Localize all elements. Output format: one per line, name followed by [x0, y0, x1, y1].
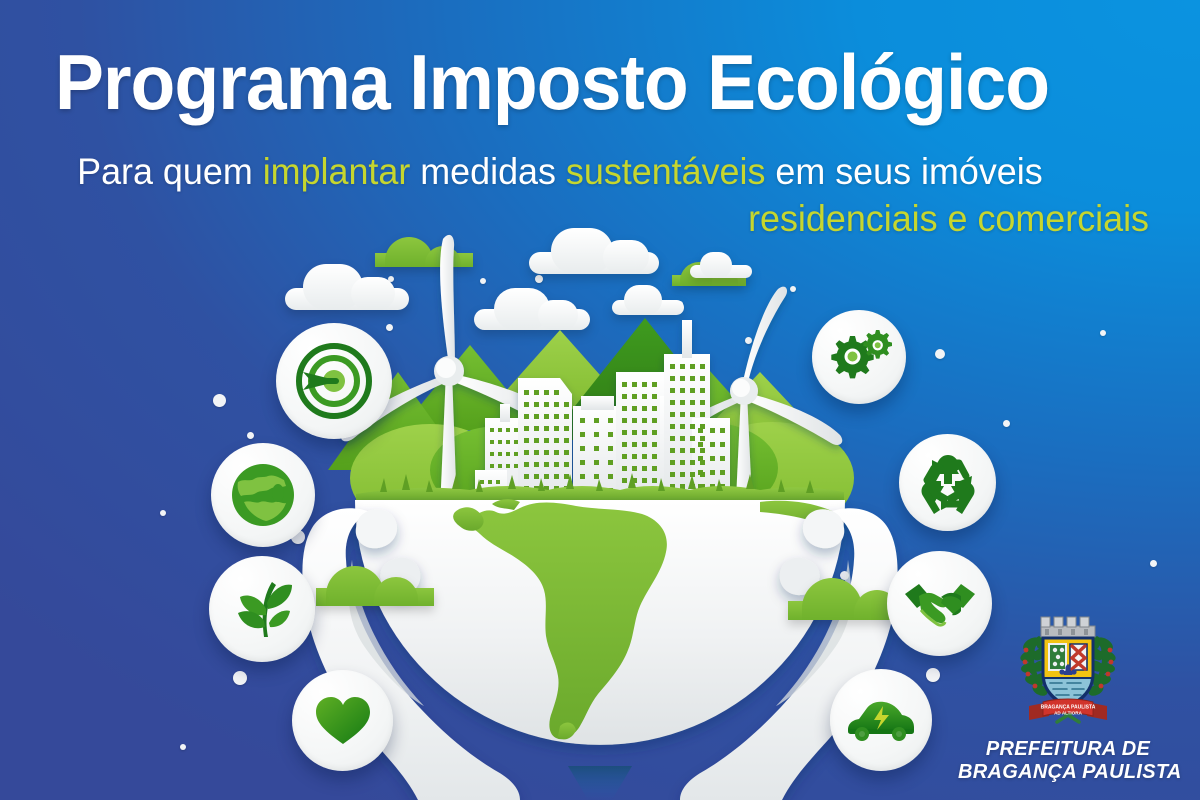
subtitle-accent-text: residenciais e comerciais — [748, 198, 1149, 239]
electric-car-icon-badge[interactable] — [830, 669, 932, 771]
recycle-icon — [914, 450, 982, 516]
logo-line-1: PREFEITURA DE — [958, 738, 1178, 761]
recycle-icon-badge[interactable] — [899, 434, 996, 531]
subtitle-accent-text: sustentáveis — [566, 151, 766, 192]
prefeitura-logo: BRAGANÇA PAULISTA AD ALTIORA PREFEITURA … — [958, 612, 1178, 784]
banner-line-2: AD ALTIORA — [1054, 710, 1082, 715]
target-icon — [295, 342, 373, 420]
subtitle-text: Para quem — [77, 151, 263, 192]
heart-icon-badge[interactable] — [292, 670, 393, 771]
sprout-icon-badge[interactable] — [209, 556, 315, 662]
logo-text: PREFEITURA DE BRAGANÇA PAULISTA — [958, 738, 1178, 784]
sprout-icon — [226, 573, 298, 645]
bush-shape — [316, 566, 434, 606]
subtitle-line-2: residenciais e comerciais — [77, 195, 1149, 242]
gears-icon-badge[interactable] — [812, 310, 906, 404]
page-subtitle: Para quem implantar medidas sustentáveis… — [77, 148, 1149, 242]
heart-icon — [312, 690, 374, 752]
subtitle-text: medidas — [410, 151, 566, 192]
brasao-icon: BRAGANÇA PAULISTA AD ALTIORA — [1009, 612, 1127, 734]
poster-root: Programa Imposto Ecológico Para quem imp… — [0, 0, 1200, 800]
subtitle-line-1: Para quem implantar medidas sustentáveis… — [77, 148, 1149, 195]
globe-shadow — [568, 766, 632, 800]
electric-car-icon — [845, 696, 917, 744]
subtitle-accent-text: implantar — [263, 151, 411, 192]
gears-icon — [826, 326, 892, 388]
target-icon-badge[interactable] — [276, 323, 392, 439]
globe-icon-badge[interactable] — [211, 443, 315, 547]
logo-line-2: BRAGANÇA PAULISTA — [958, 761, 1178, 784]
subtitle-text: em seus imóveis — [765, 151, 1042, 192]
page-title: Programa Imposto Ecológico — [55, 42, 1089, 122]
mural-crown — [1041, 617, 1095, 637]
globe-icon — [228, 460, 298, 530]
